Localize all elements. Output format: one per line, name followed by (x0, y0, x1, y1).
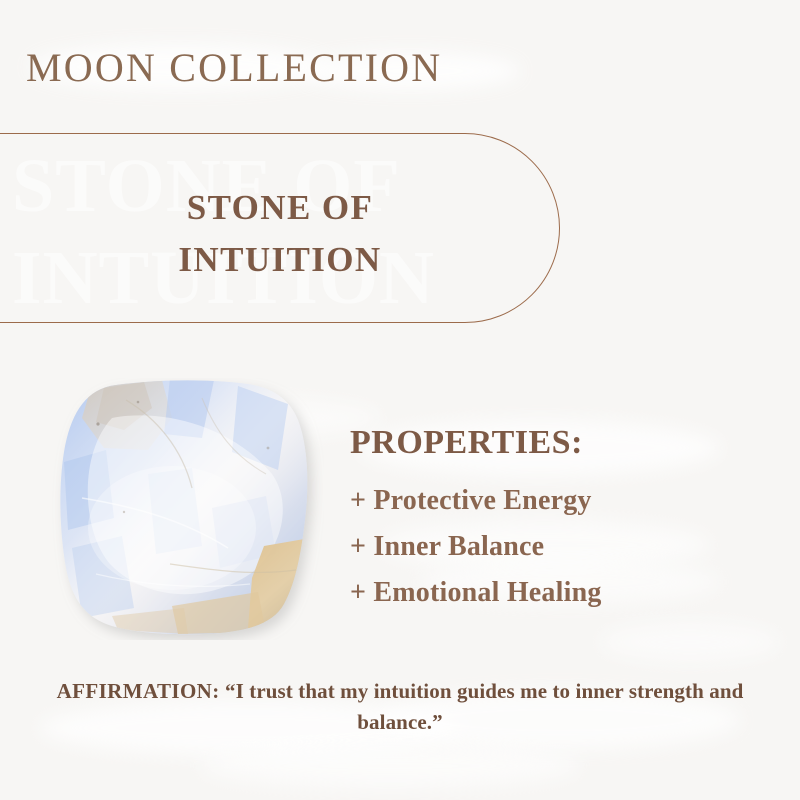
property-label: Protective Energy (373, 485, 591, 516)
properties-section: PROPERTIES: + Protective Energy + Inner … (350, 424, 770, 616)
list-item: + Protective Energy (350, 478, 770, 524)
list-item: + Emotional Healing (350, 570, 770, 616)
moonstone-image (52, 378, 324, 640)
moonstone-icon (52, 378, 324, 640)
page-title: MOON COLLECTION (26, 44, 442, 91)
affirmation-label: AFFIRMATION: (57, 679, 220, 703)
property-label: Emotional Healing (373, 577, 601, 608)
properties-heading: PROPERTIES: (350, 424, 770, 462)
moon-collection-card: MOON COLLECTION STONE OF INTUITION STONE… (0, 0, 800, 800)
property-label: Inner Balance (373, 531, 544, 562)
headline: STONE OF INTUITION (0, 182, 560, 286)
plus-icon: + (350, 485, 366, 516)
plus-icon: + (350, 577, 366, 608)
plus-icon: + (350, 531, 366, 562)
affirmation-quote: “I trust that my intuition guides me to … (225, 679, 743, 734)
affirmation-block: AFFIRMATION: “I trust that my intuition … (40, 676, 760, 738)
list-item: + Inner Balance (350, 524, 770, 570)
